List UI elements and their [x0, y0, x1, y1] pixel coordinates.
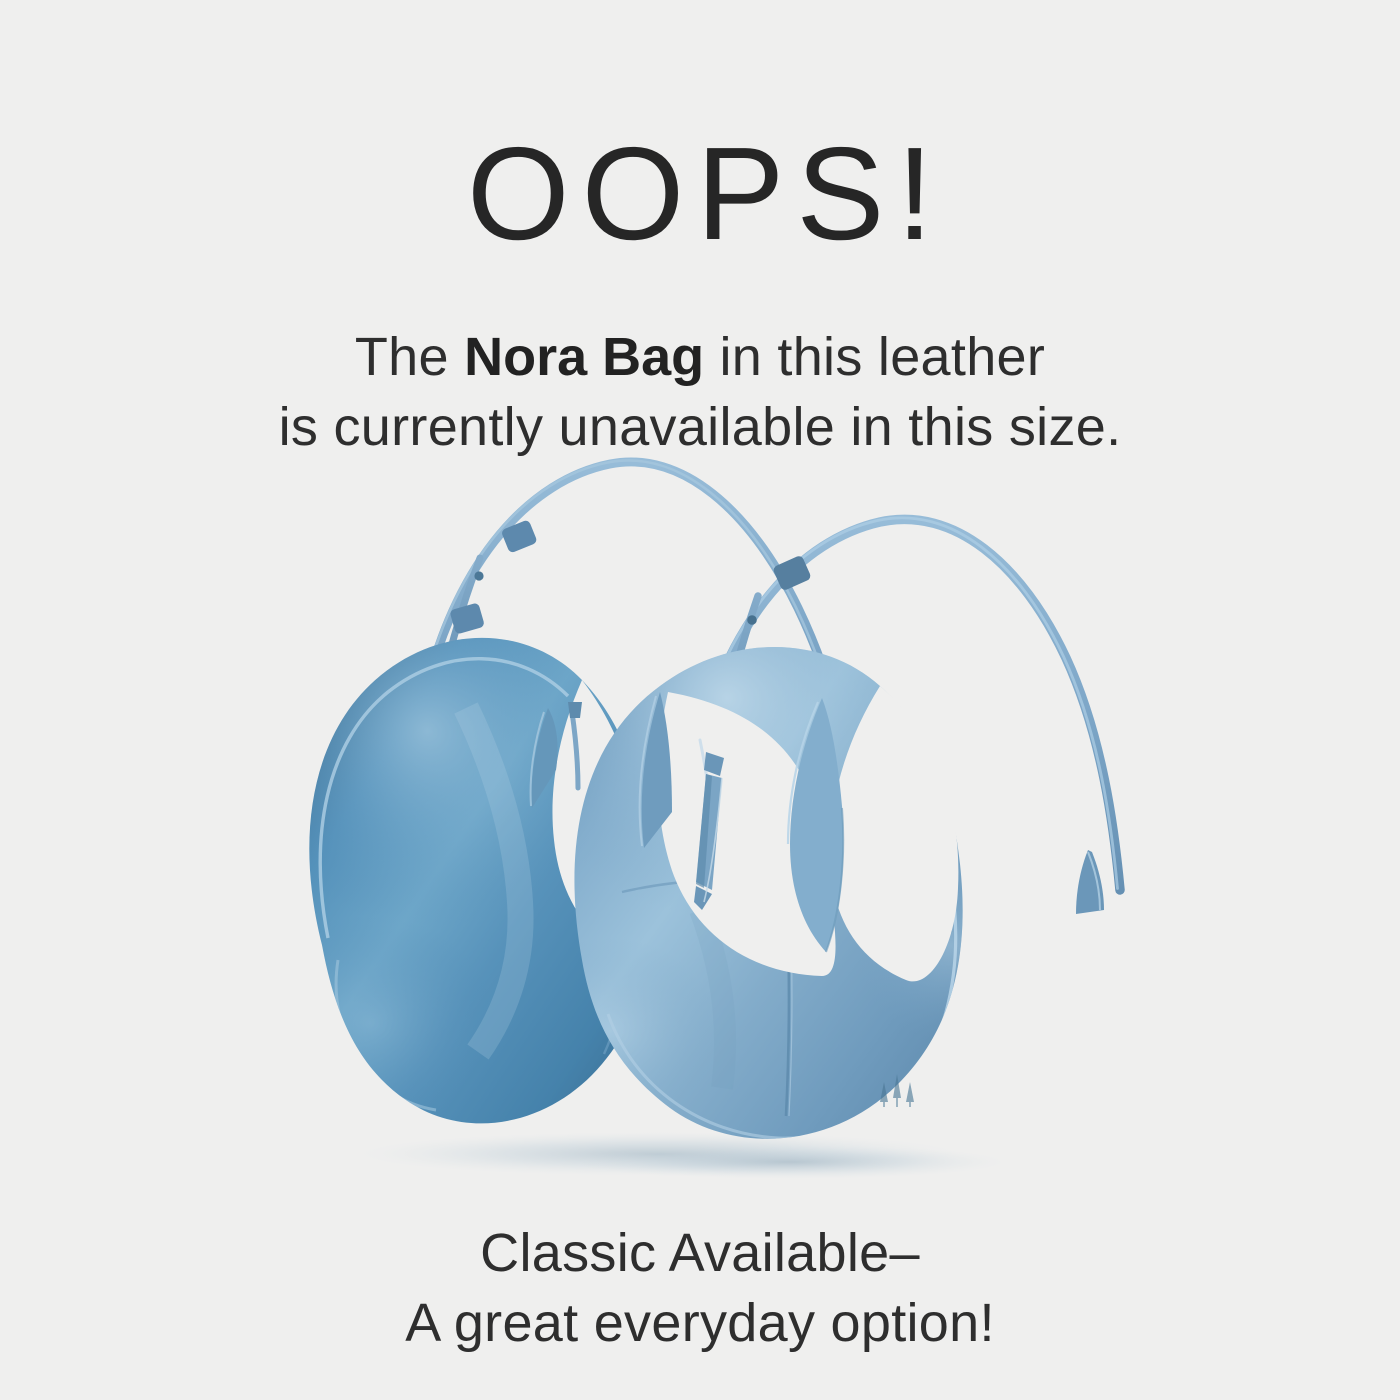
availability-message-line-2: A great everyday option!: [0, 1288, 1400, 1358]
product-name: Nora Bag: [464, 327, 704, 387]
availability-message: Classic Available– A great everyday opti…: [0, 1218, 1400, 1358]
page-title: OOPS!: [0, 128, 1400, 260]
strap-rivet: [747, 615, 757, 625]
notice-card: OOPS! The Nora Bag in this leather is cu…: [0, 0, 1400, 1400]
two-bags-illustration: [230, 440, 1170, 1220]
product-image: [230, 440, 1170, 1220]
availability-message-line-1: Classic Available–: [0, 1218, 1400, 1288]
unavailable-message-line-1: The Nora Bag in this leather: [0, 322, 1400, 392]
message-text-before: The: [355, 327, 464, 387]
strap-rivet: [474, 571, 483, 580]
message-text-after: in this leather: [704, 327, 1045, 387]
front-bag-strap-anchor: [1076, 850, 1104, 914]
front-bag-ground-shadow: [575, 1145, 1005, 1179]
